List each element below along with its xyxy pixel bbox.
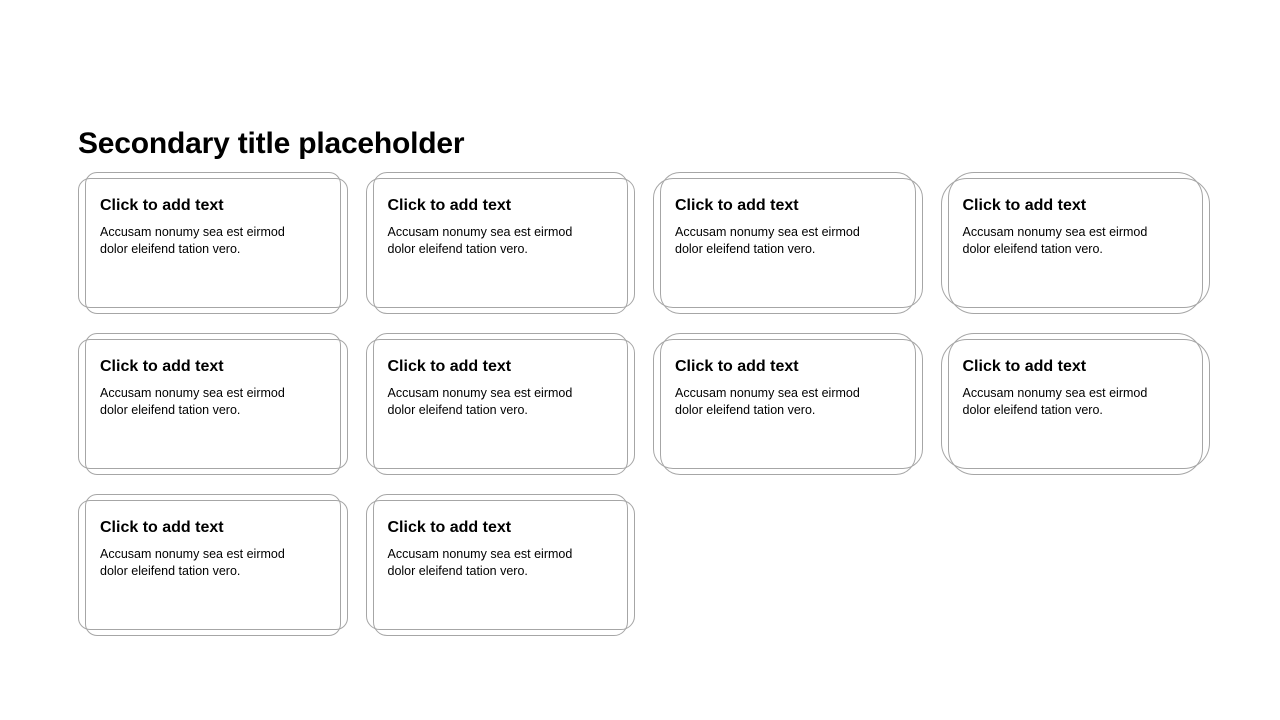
card-heading[interactable]: Click to add text xyxy=(675,196,901,216)
content-area: Secondary title placeholder Click to add… xyxy=(78,126,1210,636)
text-card[interactable]: Click to add text Accusam nonumy sea est… xyxy=(366,333,636,475)
card-text[interactable]: Accusam nonumy sea est eirmod dolor elei… xyxy=(100,224,315,258)
card-body: Click to add text Accusam nonumy sea est… xyxy=(366,333,636,475)
card-text[interactable]: Accusam nonumy sea est eirmod dolor elei… xyxy=(388,385,603,419)
text-card[interactable]: Click to add text Accusam nonumy sea est… xyxy=(366,172,636,314)
card-heading[interactable]: Click to add text xyxy=(388,196,614,216)
card-text[interactable]: Accusam nonumy sea est eirmod dolor elei… xyxy=(675,385,890,419)
card-body: Click to add text Accusam nonumy sea est… xyxy=(941,172,1211,314)
card-heading[interactable]: Click to add text xyxy=(100,518,326,538)
card-body: Click to add text Accusam nonumy sea est… xyxy=(78,333,348,475)
card-text[interactable]: Accusam nonumy sea est eirmod dolor elei… xyxy=(963,385,1178,419)
card-heading[interactable]: Click to add text xyxy=(388,357,614,377)
card-body: Click to add text Accusam nonumy sea est… xyxy=(366,172,636,314)
card-text[interactable]: Accusam nonumy sea est eirmod dolor elei… xyxy=(675,224,890,258)
text-card[interactable]: Click to add text Accusam nonumy sea est… xyxy=(78,172,348,314)
card-body: Click to add text Accusam nonumy sea est… xyxy=(653,333,923,475)
text-card[interactable]: Click to add text Accusam nonumy sea est… xyxy=(366,494,636,636)
text-card[interactable]: Click to add text Accusam nonumy sea est… xyxy=(653,333,923,475)
card-text[interactable]: Accusam nonumy sea est eirmod dolor elei… xyxy=(100,385,315,419)
card-heading[interactable]: Click to add text xyxy=(100,357,326,377)
card-heading[interactable]: Click to add text xyxy=(963,196,1189,216)
card-body: Click to add text Accusam nonumy sea est… xyxy=(78,172,348,314)
card-heading[interactable]: Click to add text xyxy=(963,357,1189,377)
card-text[interactable]: Accusam nonumy sea est eirmod dolor elei… xyxy=(388,224,603,258)
text-card[interactable]: Click to add text Accusam nonumy sea est… xyxy=(78,494,348,636)
card-heading[interactable]: Click to add text xyxy=(388,518,614,538)
text-card[interactable]: Click to add text Accusam nonumy sea est… xyxy=(653,172,923,314)
page-title: Secondary title placeholder xyxy=(78,126,1210,162)
slide-canvas: Secondary title placeholder Click to add… xyxy=(0,0,1280,720)
card-text[interactable]: Accusam nonumy sea est eirmod dolor elei… xyxy=(388,546,603,580)
card-body: Click to add text Accusam nonumy sea est… xyxy=(941,333,1211,475)
text-card[interactable]: Click to add text Accusam nonumy sea est… xyxy=(941,172,1211,314)
card-body: Click to add text Accusam nonumy sea est… xyxy=(653,172,923,314)
card-text[interactable]: Accusam nonumy sea est eirmod dolor elei… xyxy=(963,224,1178,258)
card-heading[interactable]: Click to add text xyxy=(100,196,326,216)
card-heading[interactable]: Click to add text xyxy=(675,357,901,377)
card-grid: Click to add text Accusam nonumy sea est… xyxy=(78,172,1210,636)
card-text[interactable]: Accusam nonumy sea est eirmod dolor elei… xyxy=(100,546,315,580)
card-body: Click to add text Accusam nonumy sea est… xyxy=(366,494,636,636)
text-card[interactable]: Click to add text Accusam nonumy sea est… xyxy=(941,333,1211,475)
text-card[interactable]: Click to add text Accusam nonumy sea est… xyxy=(78,333,348,475)
card-body: Click to add text Accusam nonumy sea est… xyxy=(78,494,348,636)
